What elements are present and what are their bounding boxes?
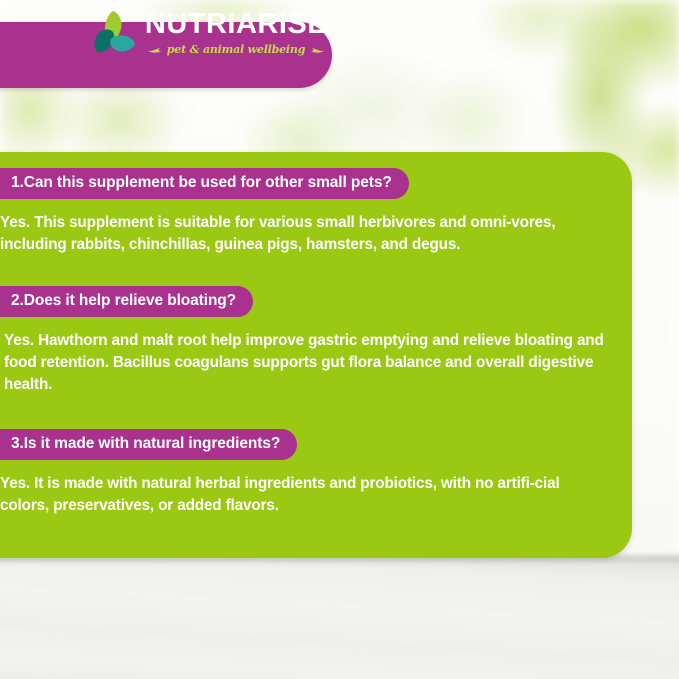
faq-question-pill[interactable]: 2.Does it help relieve bloating? [0,286,253,317]
faq-infographic-page: NUTRIARISE pet & animal wellbeing 1.Can … [0,0,679,679]
brand-tagline-row: pet & animal wellbeing [146,41,326,59]
brand-wordmark-group: NUTRIARISE pet & animal wellbeing [148,8,324,60]
faq-question-pill[interactable]: 1.Can this supplement be used for other … [0,168,409,199]
faq-answer: Yes. This supplement is suitable for var… [0,212,600,256]
faq-answer: Yes. It is made with natural herbal ingr… [0,473,600,517]
leaf-flourish-icon [146,41,162,59]
brand-name: NUTRIARISE [145,10,327,39]
faq-item: 1.Can this supplement be used for other … [0,168,614,256]
faq-panel: 1.Can this supplement be used for other … [0,152,632,558]
faq-question-pill[interactable]: 3.Is it made with natural ingredients? [0,429,297,460]
trifoliate-leaf-logo-icon [88,8,140,60]
faq-item: 2.Does it help relieve bloating? Yes. Ha… [0,286,614,396]
faq-item: 3.Is it made with natural ingredients? Y… [0,429,614,517]
brand-tagline: pet & animal wellbeing [167,44,305,56]
faq-answer: Yes. Hawthorn and malt root help improve… [0,330,604,396]
surface-background [0,556,679,679]
faq-list: 1.Can this supplement be used for other … [0,152,632,558]
leaf-flourish-icon [310,41,326,59]
